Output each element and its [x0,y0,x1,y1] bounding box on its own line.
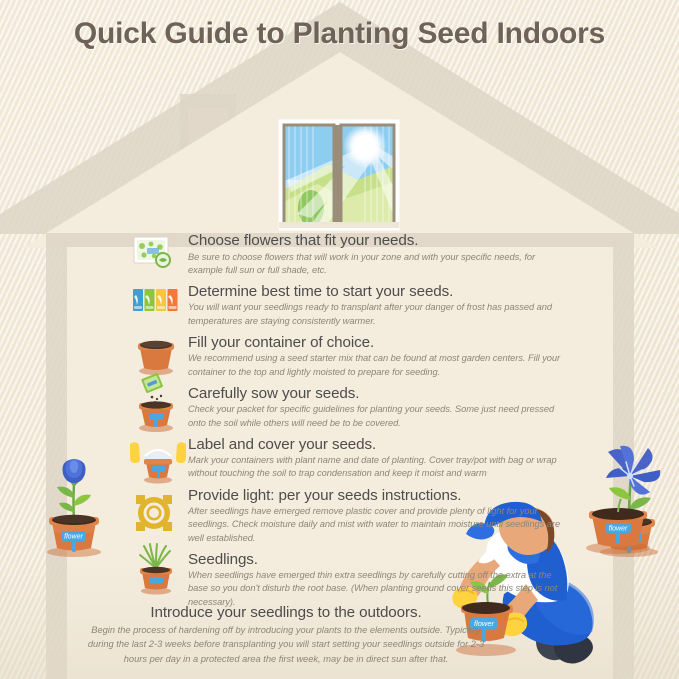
step-heading: Provide light: per your seeds instructio… [188,487,562,506]
step-body: Mark your containers with plant name and… [188,454,562,485]
step-heading: Carefully sow your seeds. [188,385,562,404]
footer-heading: Introduce your seedlings to the outdoors… [86,604,486,621]
step-fill-container: Fill your container of choice. We recomm… [132,334,562,384]
svg-text:flower: flower [609,526,628,533]
seed-packets-icon [132,285,184,337]
background-pot: flower [586,499,650,554]
page-title: Quick Guide to Planting Seed Indoors [0,17,679,51]
blue-rose-potted-plant: flower [33,438,115,558]
step-label-cover: Label and cover your seeds. Mark your co… [132,436,562,486]
step-heading: Determine best time to start your seeds. [188,283,562,302]
step-heading: Seedlings. [188,551,562,570]
step-heading: Choose flowers that fit your needs. [188,232,562,251]
steps-list: Choose flowers that fit your needs. Be s… [132,232,562,615]
step-provide-light: Provide light: per your seeds instructio… [132,487,562,550]
svg-text:flower: flower [64,534,83,541]
infographic-poster: Quick Guide to Planting Seed Indoors [0,0,679,679]
chimney-outer [180,94,236,244]
step-determine-time: Determine best time to start your seeds.… [132,283,562,333]
step-body: After seedlings have emerged remove plas… [188,505,562,550]
step-body: Check your packet for specific guideline… [188,403,562,434]
chimney-inner [188,108,228,248]
step-sow-seeds: Carefully sow your seeds. Check your pac… [132,385,562,435]
step-heading: Fill your container of choice. [188,334,562,353]
window-illustration [277,118,401,232]
step-choose-flowers: Choose flowers that fit your needs. Be s… [132,232,562,282]
footer-body: Begin the process of hardening off by in… [86,623,486,666]
footer-section: Introduce your seedlings to the outdoors… [86,604,486,666]
step-body: Be sure to choose flowers that will work… [188,251,562,282]
covered-pot-gloves-icon [128,438,188,490]
sowing-seed-packet-icon [132,373,184,425]
step-body: We recommend using a seed starter mix th… [188,352,562,383]
step-heading: Label and cover your seeds. [188,436,562,455]
seed-catalog-icon [132,234,184,286]
seedling-pot-icon [132,535,184,587]
step-body: You will want your seedlings ready to tr… [188,301,562,332]
